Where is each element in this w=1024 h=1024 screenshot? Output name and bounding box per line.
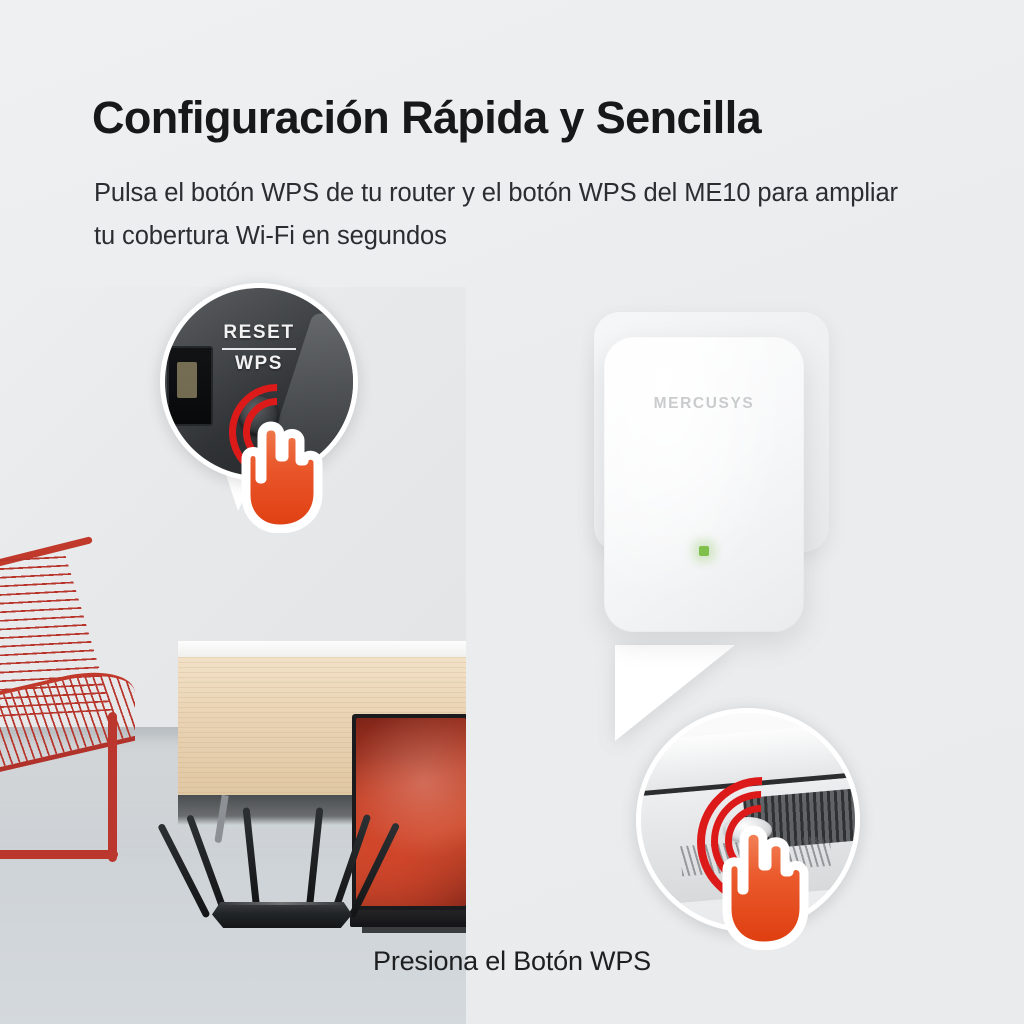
label-divider — [222, 348, 296, 350]
pointing-hand-icon — [228, 401, 336, 533]
monitor-foot — [362, 927, 466, 933]
pointing-hand-icon — [708, 810, 824, 950]
extender-wps-callout — [636, 708, 866, 948]
callout-caption: Presiona el Botón WPS — [0, 946, 1024, 977]
wire-chair-icon — [0, 562, 170, 892]
chair-leg-front — [108, 712, 117, 862]
brand-logo: MERCUSYS — [604, 395, 804, 413]
wifi-extender-product: MERCUSYS — [604, 337, 804, 632]
reset-label: RESET — [165, 322, 353, 344]
monitor-base — [350, 910, 466, 927]
page-subtitle: Pulsa el botón WPS de tu router y el bot… — [94, 172, 924, 258]
router-antenna — [330, 814, 371, 917]
router-body — [212, 902, 352, 928]
router-wps-callout: RESET WPS — [160, 283, 360, 533]
router-antenna — [243, 807, 260, 907]
credenza-top — [178, 641, 466, 657]
router-antenna — [306, 807, 323, 907]
page-title: Configuración Rápida y Sencilla — [92, 92, 761, 144]
product-feature-banner: Configuración Rápida y Sencilla Pulsa el… — [0, 0, 1024, 1024]
wifi-router-icon — [196, 807, 366, 942]
status-led-icon — [699, 546, 709, 556]
chair-foot-rail — [0, 850, 118, 859]
